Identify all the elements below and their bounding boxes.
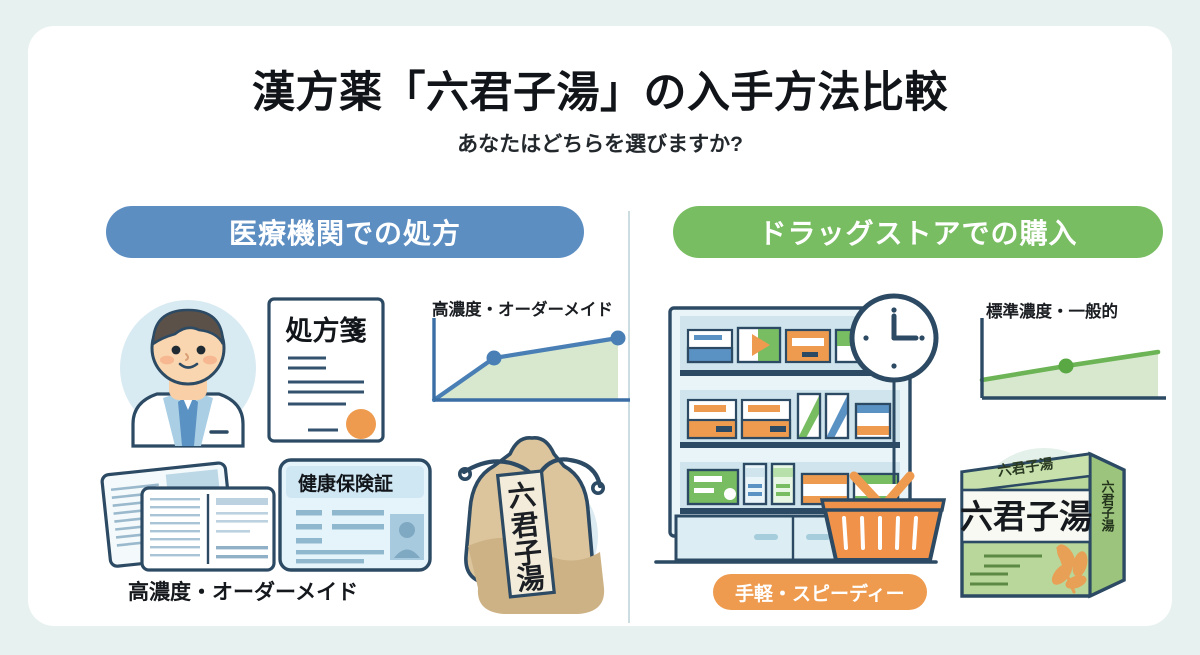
herbal-medicine-pouch-icon: 六 君 子 湯 <box>446 424 624 606</box>
caption-clinic: 高濃度・オーダーメイド <box>128 576 358 606</box>
svg-text:湯: 湯 <box>515 562 546 597</box>
chart-clinic-label: 高濃度・オーダーメイド <box>432 296 613 320</box>
column-clinic: 医療機関での処方 <box>58 176 603 596</box>
badge-drugstore: 手軽・スピーディー <box>713 574 927 610</box>
otc-medicine-box-icon: 六君子湯 六君子湯 六君子湯 <box>948 444 1140 604</box>
heading-drugstore: ドラッグストアでの購入 <box>673 206 1163 258</box>
page-title: 漢方薬「六君子湯」の入手方法比較 <box>28 58 1172 120</box>
svg-text:六: 六 <box>506 479 537 514</box>
insurance-card-title: 健康保険証 <box>298 472 393 495</box>
heading-clinic: 医療機関での処方 <box>106 206 584 258</box>
chart-drugstore-label: 標準濃度・一般的 <box>986 298 1118 322</box>
chart-clinic-potency: 高濃度・オーダーメイド <box>418 296 633 408</box>
otc-box-side-text: 六君子湯 <box>1100 479 1115 533</box>
column-drugstore: ドラッグストアでの購入 <box>628 176 1168 596</box>
wall-clock-icon <box>852 296 936 380</box>
otc-box-front-text: 六君子湯 <box>960 499 1092 536</box>
doctor-avatar-icon <box>113 294 263 446</box>
content-card: 漢方薬「六君子湯」の入手方法比較 あなたはどちらを選びますか? 医療機関での処方 <box>28 26 1172 626</box>
drugstore-shelf-icon <box>646 294 946 576</box>
health-insurance-card-icon: 健康保険証 <box>276 456 434 574</box>
prescription-title: 処方箋 <box>286 315 367 346</box>
infographic-page: 漢方薬「六君子湯」の入手方法比較 あなたはどちらを選びますか? 医療機関での処方 <box>0 0 1200 655</box>
prescription-document-icon: 処方箋 <box>266 296 386 444</box>
medical-records-icon <box>98 454 288 574</box>
chart-drugstore-potency: 標準濃度・一般的 <box>966 298 1171 406</box>
page-subtitle: あなたはどちらを選びますか? <box>28 128 1172 158</box>
